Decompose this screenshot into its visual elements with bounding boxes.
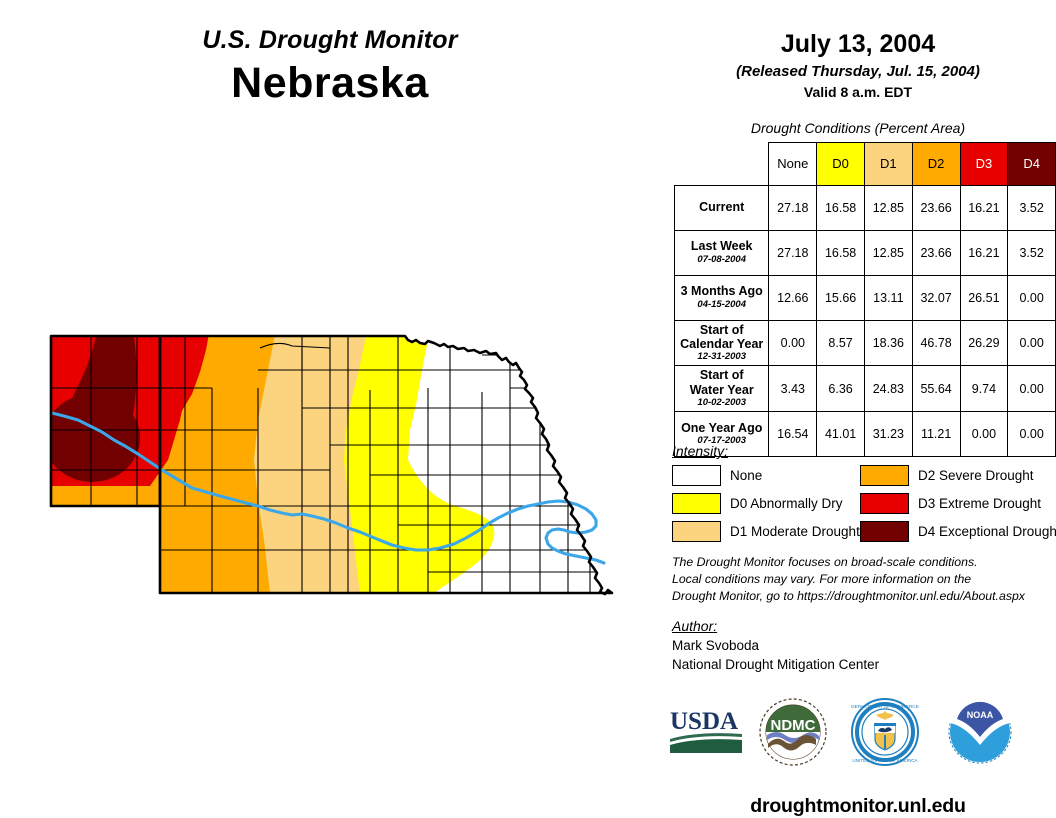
map-title-block: U.S. Drought Monitor Nebraska	[0, 26, 660, 108]
legend-label: D3 Extreme Drought	[918, 496, 1041, 511]
legend-item-none: None	[672, 465, 860, 486]
table-cell-d1: 24.83	[864, 366, 912, 412]
valid-time: Valid 8 a.m. EDT	[660, 84, 1056, 100]
table-row-label: 3 Months Ago04-15-2004	[675, 275, 769, 320]
legend-label: D4 Exceptional Drought	[918, 524, 1056, 539]
row-label-date: 04-15-2004	[678, 300, 765, 311]
column-header-d0: D0	[817, 143, 865, 186]
fill-d2-panhandle-south	[51, 486, 160, 506]
table-cell-d1: 13.11	[864, 275, 912, 320]
legend-title: Intensity:	[672, 443, 1052, 459]
legend-label: D1 Moderate Drought	[730, 524, 860, 539]
column-header-d3: D3	[960, 143, 1008, 186]
row-label-text: 3 Months Ago	[681, 284, 763, 298]
table-cell-d1: 12.85	[864, 230, 912, 275]
row-label-date: 10-02-2003	[678, 398, 765, 409]
column-header-d2: D2	[912, 143, 960, 186]
row-label-text: One Year Ago	[681, 421, 762, 435]
table-corner-cell	[675, 143, 769, 186]
table-cell-d4: 0.00	[1008, 275, 1056, 320]
table-cell-none: 27.18	[769, 230, 817, 275]
release-date: (Released Thursday, Jul. 15, 2004)	[660, 63, 1056, 80]
table-cell-d2: 23.66	[912, 230, 960, 275]
table-cell-d2: 46.78	[912, 320, 960, 366]
legend-item-d1: D1 Moderate Drought	[672, 521, 860, 542]
date-block: July 13, 2004 (Released Thursday, Jul. 1…	[660, 30, 1056, 100]
noaa-logo-icon: NOAA	[945, 697, 1015, 767]
legend-item-d0: D0 Abnormally Dry	[672, 493, 860, 514]
ndmc-logo-icon: NDMC	[758, 697, 828, 767]
disclaimer-line-2: Local conditions may vary. For more info…	[672, 571, 1052, 588]
table-cell-d3: 16.21	[960, 185, 1008, 230]
disclaimer-line-1: The Drought Monitor focuses on broad-sca…	[672, 554, 1052, 571]
table-cell-d1: 18.36	[864, 320, 912, 366]
table-cell-d3: 9.74	[960, 366, 1008, 412]
row-label-text: Start ofCalendar Year	[680, 323, 763, 351]
table-cell-d0: 15.66	[817, 275, 865, 320]
table-body: Current27.1816.5812.8523.6616.213.52Last…	[675, 185, 1056, 456]
legend-label: D0 Abnormally Dry	[730, 496, 843, 511]
intensity-legend: Intensity: NoneD2 Severe DroughtD0 Abnor…	[672, 443, 1052, 542]
department-of-commerce-seal-icon: DEPARTMENT OF COMMERCE UNITED STATES OF …	[850, 697, 920, 767]
svg-text:NDMC: NDMC	[771, 717, 816, 734]
table-cell-d2: 32.07	[912, 275, 960, 320]
row-label-date: 12-31-2003	[678, 352, 765, 363]
table-caption: Drought Conditions (Percent Area)	[660, 120, 1056, 136]
table-cell-d2: 55.64	[912, 366, 960, 412]
table-row: Start ofWater Year10-02-20033.436.3624.8…	[675, 366, 1056, 412]
legend-swatch-none-icon	[672, 465, 721, 486]
table-row-label: Start ofCalendar Year12-31-2003	[675, 320, 769, 366]
row-label-text: Start ofWater Year	[690, 368, 754, 396]
row-label-text: Last Week	[691, 239, 753, 253]
disclaimer-text: The Drought Monitor focuses on broad-sca…	[672, 554, 1052, 605]
legend-label: None	[730, 468, 762, 483]
table-cell-d4: 0.00	[1008, 366, 1056, 412]
svg-text:NOAA: NOAA	[967, 710, 994, 720]
product-title: U.S. Drought Monitor	[0, 26, 660, 55]
column-header-none: None	[769, 143, 817, 186]
table-cell-d0: 8.57	[817, 320, 865, 366]
table-cell-d4: 3.52	[1008, 185, 1056, 230]
table-cell-d0: 16.58	[817, 185, 865, 230]
table-header-row: None D0 D1 D2 D3 D4	[675, 143, 1056, 186]
author-label: Author:	[672, 618, 1052, 634]
table-row-label: Last Week07-08-2004	[675, 230, 769, 275]
state-title: Nebraska	[0, 59, 660, 108]
legend-label: D2 Severe Drought	[918, 468, 1034, 483]
table-row: Current27.1816.5812.8523.6616.213.52	[675, 185, 1056, 230]
legend-swatch-d0-icon	[672, 493, 721, 514]
table-cell-d0: 16.58	[817, 230, 865, 275]
table-cell-none: 0.00	[769, 320, 817, 366]
legend-swatch-d1-icon	[672, 521, 721, 542]
table-cell-d2: 23.66	[912, 185, 960, 230]
logo-strip: USDA NDMC DEPARTMENT OF COMMERCE UNITED …	[660, 695, 1056, 775]
legend-item-d3: D3 Extreme Drought	[860, 493, 1048, 514]
table-row: 3 Months Ago04-15-200412.6615.6613.1132.…	[675, 275, 1056, 320]
author-block: Author: Mark Svoboda National Drought Mi…	[672, 618, 1052, 672]
map-svg[interactable]	[30, 310, 650, 610]
legend-swatch-d2-icon	[860, 465, 909, 486]
drought-conditions-table: None D0 D1 D2 D3 D4 Current27.1816.5812.…	[674, 142, 1056, 457]
nebraska-drought-map[interactable]	[30, 310, 650, 610]
table-cell-d4: 0.00	[1008, 320, 1056, 366]
table-cell-d0: 6.36	[817, 366, 865, 412]
table-row-label: Current	[675, 185, 769, 230]
svg-text:DEPARTMENT OF COMMERCE: DEPARTMENT OF COMMERCE	[851, 704, 918, 709]
table-cell-d3: 16.21	[960, 230, 1008, 275]
disclaimer-line-3: Drought Monitor, go to https://droughtmo…	[672, 588, 1052, 605]
author-organization: National Drought Mitigation Center	[672, 657, 1052, 672]
legend-swatch-d4-icon	[860, 521, 909, 542]
table-cell-d4: 3.52	[1008, 230, 1056, 275]
usda-logo-icon: USDA	[668, 707, 744, 757]
table-cell-d3: 26.51	[960, 275, 1008, 320]
row-label-date: 07-08-2004	[678, 255, 765, 266]
table-row-label: Start ofWater Year10-02-2003	[675, 366, 769, 412]
table-row: Start ofCalendar Year12-31-20030.008.571…	[675, 320, 1056, 366]
table-cell-none: 12.66	[769, 275, 817, 320]
legend-item-d4: D4 Exceptional Drought	[860, 521, 1048, 542]
row-label-text: Current	[699, 200, 744, 214]
svg-text:USDA: USDA	[670, 708, 738, 735]
table-cell-none: 27.18	[769, 185, 817, 230]
table-cell-d3: 26.29	[960, 320, 1008, 366]
table-cell-none: 3.43	[769, 366, 817, 412]
drought-intensity-fills	[30, 310, 650, 610]
legend-swatch-d3-icon	[860, 493, 909, 514]
table-row: Last Week07-08-200427.1816.5812.8523.661…	[675, 230, 1056, 275]
legend-item-d2: D2 Severe Drought	[860, 465, 1048, 486]
svg-text:UNITED STATES OF AMERICA: UNITED STATES OF AMERICA	[852, 758, 918, 763]
website-url[interactable]: droughtmonitor.unl.edu	[660, 795, 1056, 818]
author-name: Mark Svoboda	[672, 638, 1052, 653]
column-header-d1: D1	[864, 143, 912, 186]
valid-date: July 13, 2004	[660, 30, 1056, 59]
legend-grid: NoneD2 Severe DroughtD0 Abnormally DryD3…	[672, 465, 1052, 542]
table-cell-d1: 12.85	[864, 185, 912, 230]
fill-d4-lobe	[44, 394, 140, 482]
column-header-d4: D4	[1008, 143, 1056, 186]
